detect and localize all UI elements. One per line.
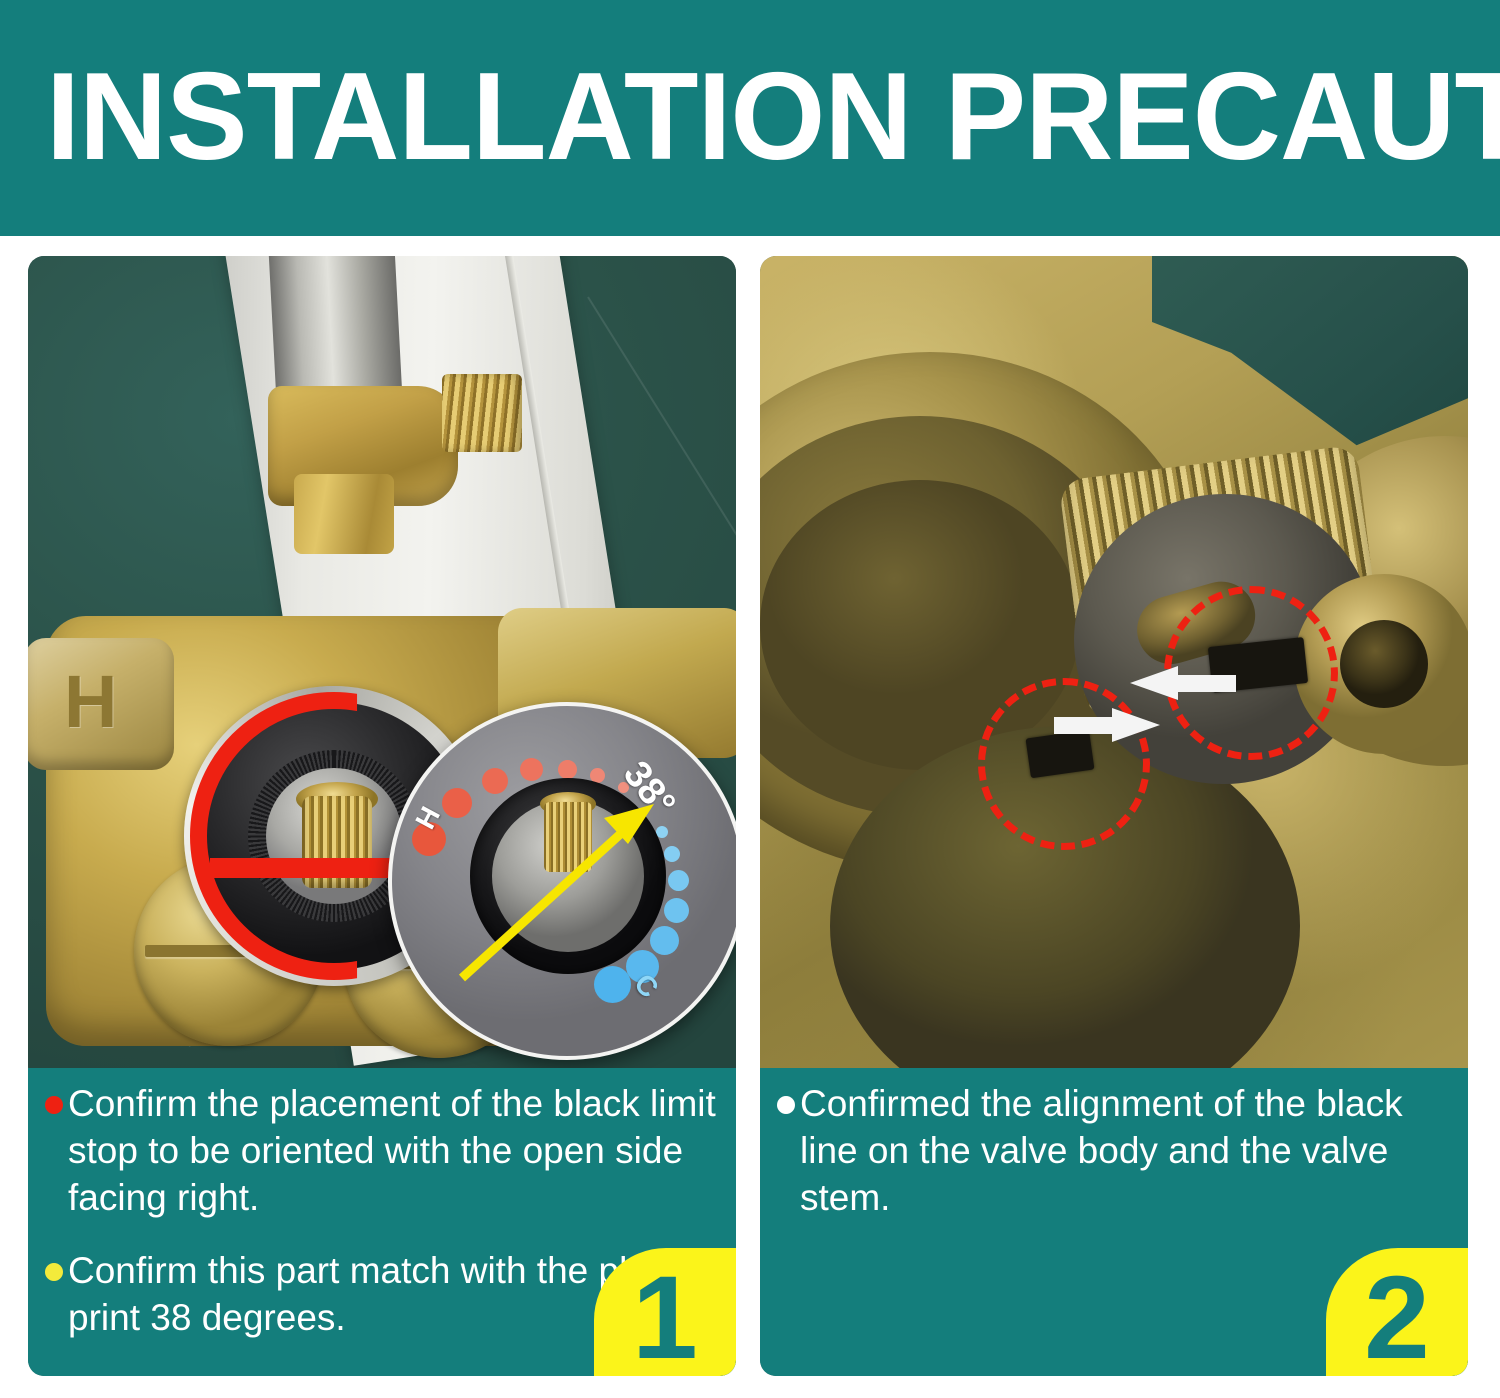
arrow-head	[1130, 666, 1178, 700]
arrow-shaft	[1054, 717, 1114, 734]
step-number: 1	[632, 1259, 698, 1376]
hot-port-letter: H	[64, 666, 134, 738]
step-badge-2: 2	[1326, 1248, 1468, 1376]
bullet-yellow-icon	[45, 1263, 63, 1281]
dial-alignment-arrow-icon	[392, 706, 736, 1056]
bullet-white-icon	[777, 1096, 795, 1114]
threaded-outlet	[442, 374, 522, 452]
panel-2-caption: Confirmed the alignment of the black lin…	[760, 1068, 1468, 1376]
scratch	[587, 296, 736, 551]
brass-collar	[294, 474, 394, 554]
panel-2-photo	[760, 256, 1468, 1068]
panel-1-photo: H	[28, 256, 736, 1068]
caption-text: Confirm the placement of the black limit…	[68, 1083, 716, 1218]
panel-1-caption: Confirm the placement of the black limit…	[28, 1068, 736, 1376]
step-number: 2	[1364, 1259, 1430, 1376]
arrow-shaft	[1176, 675, 1236, 692]
page-title: INSTALLATION PRECAUTIONS	[46, 52, 1445, 182]
panel-1: H	[28, 256, 736, 1376]
infographic-page: INSTALLATION PRECAUTIONS H	[0, 0, 1500, 1398]
alignment-arrow-right-icon	[1130, 666, 1236, 700]
header-banner: INSTALLATION PRECAUTIONS	[0, 0, 1500, 236]
caption-text: Confirmed the alignment of the black lin…	[800, 1083, 1403, 1218]
panel-2-caption-list: Confirmed the alignment of the black lin…	[774, 1080, 1450, 1247]
temperature-dial-inset: 38° H C	[388, 702, 736, 1060]
alignment-arrow-left-icon	[1054, 708, 1160, 742]
caption-item: Confirmed the alignment of the black lin…	[774, 1080, 1450, 1221]
bullet-red-icon	[45, 1096, 63, 1114]
step-badge-1: 1	[594, 1248, 736, 1376]
hub-nut-bore	[1340, 620, 1428, 708]
panel-2: Confirmed the alignment of the black lin…	[760, 256, 1468, 1376]
caption-text: Confirm this part match with the plate p…	[68, 1250, 679, 1338]
arrow-head	[1112, 708, 1160, 742]
caption-item: Confirm the placement of the black limit…	[42, 1080, 718, 1221]
black-line-marker-left-icon	[978, 678, 1150, 850]
